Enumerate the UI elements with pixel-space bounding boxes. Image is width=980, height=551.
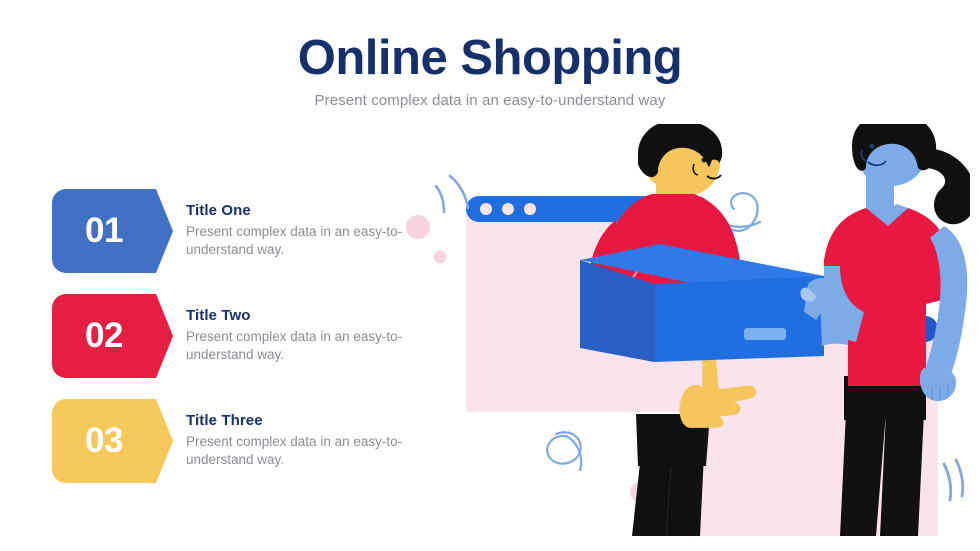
step-description-02: Present complex data in an easy-to-under…: [186, 328, 406, 364]
browser-dot-2: [502, 203, 514, 215]
woman-right-leg: [880, 412, 924, 536]
motion-lines-bottomright: [944, 460, 963, 500]
man-right-leg: [666, 454, 704, 536]
delivery-box: [580, 244, 824, 362]
squiggle-loop-bottom: [547, 432, 581, 470]
step-number-01: 01: [52, 189, 156, 273]
step-description-01: Present complex data in an easy-to-under…: [186, 223, 406, 259]
page-title: Online Shopping: [0, 32, 980, 86]
step-title-01: Title One: [186, 202, 406, 219]
step-item-02[interactable]: 02 Title Two Present complex data in an …: [52, 294, 412, 384]
step-item-01[interactable]: 01 Title One Present complex data in an …: [52, 189, 412, 279]
browser-dot-3: [524, 203, 536, 215]
man-left-leg: [632, 454, 672, 536]
browser-dot-1: [480, 203, 492, 215]
shopping-illustration: [404, 124, 970, 536]
man-eye: [702, 158, 707, 163]
step-list: 01 Title One Present complex data in an …: [52, 189, 412, 489]
woman-eye: [870, 144, 875, 149]
step-number-03: 03: [52, 399, 156, 483]
box-label: [744, 328, 786, 340]
page-subtitle: Present complex data in an easy-to-under…: [0, 92, 980, 109]
step-text-01: Title One Present complex data in an eas…: [186, 202, 406, 259]
box-front-face: [654, 276, 824, 362]
step-description-03: Present complex data in an easy-to-under…: [186, 433, 406, 469]
slide-canvas: Online Shopping Present complex data in …: [0, 0, 980, 551]
woman-ponytail: [924, 148, 970, 224]
motion-lines-topleft: [436, 176, 468, 212]
step-title-03: Title Three: [186, 412, 406, 429]
step-title-02: Title Two: [186, 307, 406, 324]
step-text-02: Title Two Present complex data in an eas…: [186, 307, 406, 364]
step-text-03: Title Three Present complex data in an e…: [186, 412, 406, 469]
slide-header: Online Shopping Present complex data in …: [0, 32, 980, 109]
step-number-02: 02: [52, 294, 156, 378]
step-item-03[interactable]: 03 Title Three Present complex data in a…: [52, 399, 412, 489]
